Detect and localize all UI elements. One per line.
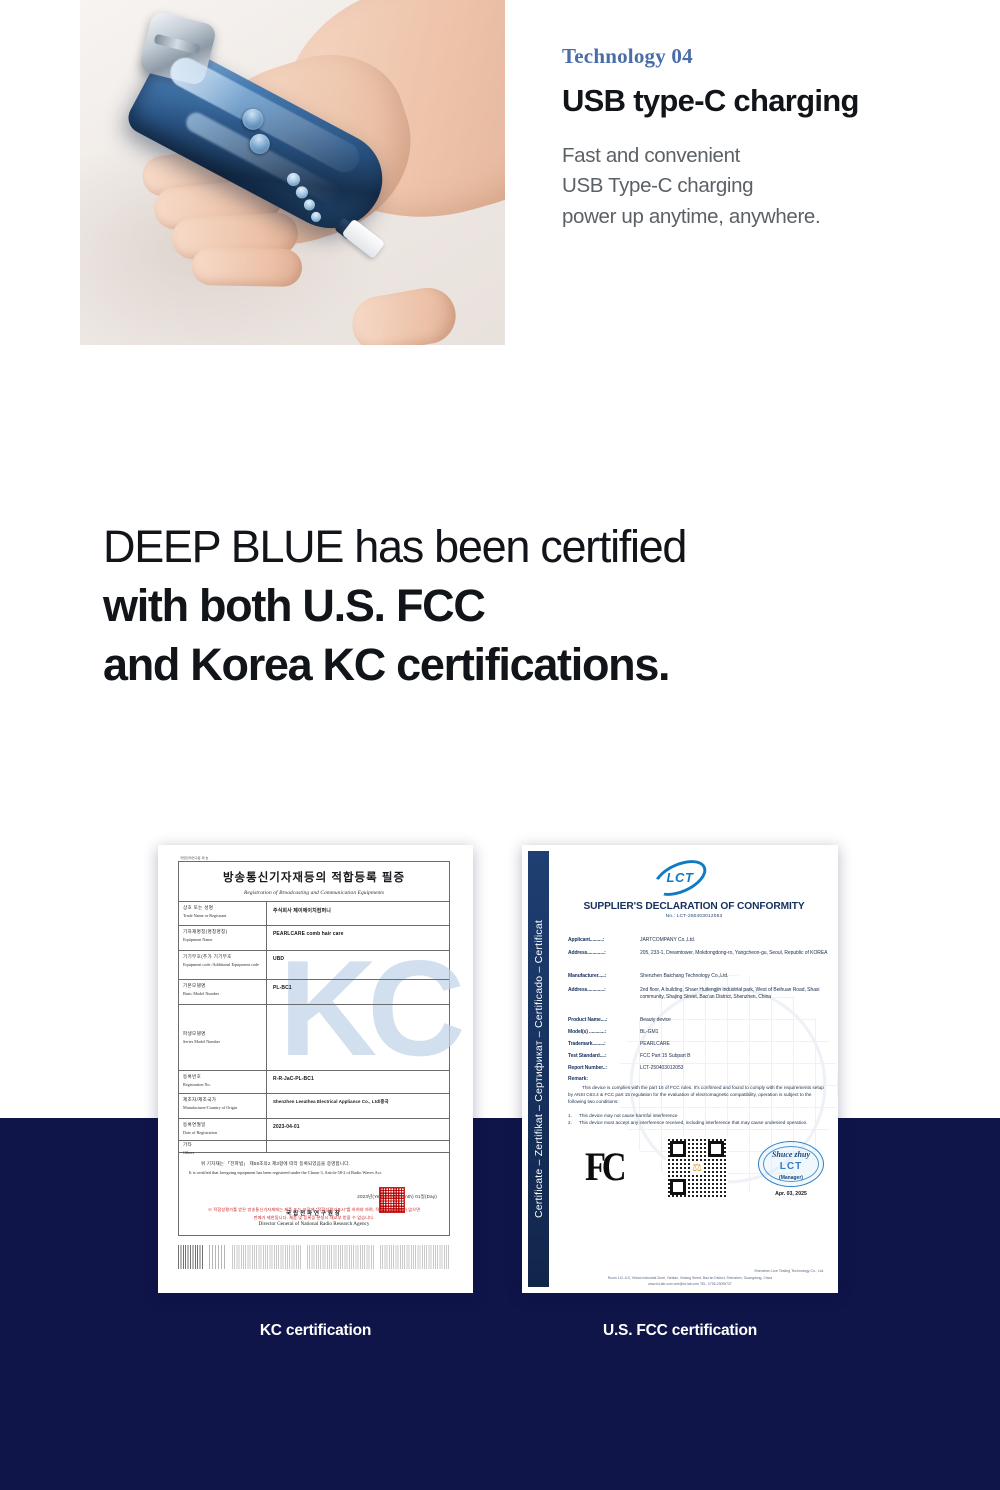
kc-label-ko: 파생모델명 [183, 1031, 266, 1037]
fcc-condition-1-number: 1. [568, 1112, 579, 1119]
qr-finder-bottom-left [670, 1179, 686, 1195]
kc-row-series-model: 파생모델명 Series Model Number [179, 1005, 449, 1071]
kc-row-manufacturer: 제조자/제조국가 Manufacturer/Country of Origin … [179, 1094, 449, 1119]
qr-finder-top-left [670, 1141, 686, 1157]
headline-line-1: DEEP BLUE has been certified [103, 518, 953, 577]
fcc-certificate-spine: Certificate – Zertifikat – Сертификат – … [528, 851, 549, 1287]
fcc-heading: SUPPLIER'S DECLARATION OF CONFORMITY [556, 901, 832, 912]
kc-label-ko: 등록연월일 [183, 1122, 266, 1128]
kc-title-korean: 방송통신기자재등의 적합등록 필증 [179, 869, 449, 885]
fcc-field-applicant-address: Address.............: 205, 233-1, Dreamt… [568, 950, 830, 957]
kc-label-manufacturer: 제조자/제조국가 Manufacturer/Country of Origin [179, 1094, 267, 1118]
lab-manager-stamp: Shuce zhuy LCT (Manager) [758, 1141, 824, 1187]
fcc-label-applicant: Applicant..........: [568, 937, 640, 944]
fcc-value-report-number: LCT-250403012053 [640, 1065, 683, 1072]
fcc-value-trademark: PEARLCARE [640, 1041, 670, 1048]
kc-label-basic-model: 기본모델명 Basic Model Number [179, 980, 267, 1004]
navy-band [0, 1118, 1000, 1490]
fcc-label-applicant-address: Address.............: [568, 950, 640, 957]
fcc-field-models: Model(s) ............: BL-GM1 [568, 1029, 830, 1036]
fcc-field-trademark: Trademark.........: PEARLCARE [568, 1041, 830, 1048]
kc-label-en: Registration No. [183, 1082, 266, 1087]
kc-label-ko: 기기부호(추가 기기부호 [183, 954, 266, 960]
kc-row-equipment-code: 기기부호(추가 기기부호 Equipment code /Additional … [179, 951, 449, 980]
fcc-marks-row: FC ⚖ Shuce zhuy LCT (Manager) Apr. 03, 2… [582, 1135, 832, 1205]
kc-value-trade-name: 주식회사 제이에이치컴퍼니 [267, 902, 331, 925]
fcc-field-report-number: Report Number..: LCT-250403012053 [568, 1065, 830, 1072]
fcc-field-applicant: Applicant..........: JARTCOMPANY Co.,Ltd… [568, 937, 830, 944]
fcc-remark-title: Remark: [568, 1076, 588, 1082]
fcc-label-test-standard: Test Standard....: [568, 1053, 640, 1060]
kc-label-series-model: 파생모델명 Series Model Number [179, 1005, 267, 1070]
fcc-condition-1: 1. This device may not cause harmful int… [568, 1112, 824, 1119]
fcc-value-manufacturer-address: 2nd floor, A building, Shaer Huifengjin … [640, 987, 830, 1001]
qr-center-emblem: ⚖ [690, 1161, 704, 1175]
fcc-label-report-number: Report Number..: [568, 1065, 640, 1072]
headline-line-3: and Korea KC certifications. [103, 636, 953, 695]
kc-note-korean: 위 기자재는 「전파법」 제58조의2 제3항에 따라 등록되었음을 증명합니다… [189, 1161, 439, 1167]
technology-desc-line-2: USB Type-C charging [562, 171, 962, 201]
kc-agency-english: Director General of National Radio Resea… [179, 1221, 449, 1227]
kc-label-ko: 기타 [183, 1142, 266, 1148]
kc-certificate-card: 국립전파연구원 제 호 KC 방송통신기자재등의 적합등록 필증 Registr… [158, 845, 473, 1293]
kc-barcode-2 [307, 1245, 375, 1269]
kc-value-registration-no: R-R-JaC-PL-BC1 [267, 1071, 314, 1093]
headline-line-2: with both U.S. FCC [103, 577, 953, 636]
kc-red-note-2: 판매가 제한됩니다. 제품 및 등록증 분실시 재교부 받을 수 없습니다. [179, 1215, 449, 1221]
kc-barcode-3 [380, 1245, 450, 1269]
lct-logo-text: LCT [652, 870, 708, 885]
kc-row-trade-name: 상호 또는 성명 Trade Name or Registrant 주식회사 제… [179, 902, 449, 926]
fcc-value-manufacturer: Shenzhen Baichang Technology Co.,Ltd. [640, 973, 728, 980]
kc-note-block: 위 기자재는 「전파법」 제58조의2 제3항에 따라 등록되었음을 증명합니다… [179, 1153, 449, 1237]
kc-label-en: Series Model Number [183, 1039, 266, 1044]
fcc-value-models: BL-GM1 [640, 1029, 658, 1036]
fcc-label-product-name: Product Name....: [568, 1017, 640, 1024]
fcc-value-test-standard: FCC Part 15 Subpart B [640, 1053, 690, 1060]
kc-label-en: Basic Model Number [183, 991, 266, 996]
kc-label-en: Equipment code /Additional Equipment cod… [183, 962, 266, 967]
kc-label-ko: 제조자/제조국가 [183, 1097, 266, 1103]
kc-label-others: 기타 Others [179, 1141, 267, 1152]
kc-label-ko: 기본모델명 [183, 983, 266, 989]
kc-title-cell: 방송통신기자재등의 적합등록 필증 Registration of Broadc… [179, 862, 449, 902]
fcc-spine-text: Certificate – Zertifikat – Сертификат – … [533, 920, 545, 1218]
fcc-document-number: No.: LCT-250403012053 [556, 914, 832, 919]
fcc-remark-body: This device is complies with the part 15… [568, 1084, 824, 1105]
fcc-value-applicant: JARTCOMPANY Co.,Ltd. [640, 937, 695, 944]
kc-qr-code [178, 1245, 204, 1269]
kc-label-en: Date of Registration [183, 1130, 266, 1135]
fcc-label-models: Model(s) ............: [568, 1029, 640, 1036]
fcc-footer-company: Shenzhen Lice Testing Technology Co., Lt… [754, 1269, 824, 1273]
kc-certificate-caption: KC certification [158, 1322, 473, 1340]
kc-certificate-frame: KC 방송통신기자재등의 적합등록 필증 Registration of Bro… [178, 861, 450, 1236]
kc-label-en: Equipment Name [183, 937, 266, 942]
fcc-issue-date: Apr. 03, 2025 [758, 1191, 824, 1197]
kc-label-registration-no: 등록번호 Registration No. [179, 1071, 267, 1093]
kc-barcode-small [209, 1245, 227, 1269]
kc-value-series-model [267, 1005, 273, 1070]
device-head-slot [154, 34, 201, 55]
kc-note-english: It is certified that foregoing equipment… [189, 1170, 439, 1176]
kc-barcode-strip [178, 1245, 454, 1269]
fcc-condition-2: 2. This device must accept any interfere… [568, 1119, 824, 1126]
stamp-signature: Shuce zhuy [759, 1150, 823, 1159]
kc-value-others [267, 1141, 273, 1152]
fcc-certificate-card: Certificate – Zertifikat – Сертификат – … [522, 845, 838, 1293]
kc-label-en: Trade Name or Registrant [183, 913, 266, 918]
fcc-field-test-standard: Test Standard....: FCC Part 15 Subpart B [568, 1053, 830, 1060]
kc-label-en: Manufacturer/Country of Origin [183, 1105, 266, 1110]
kc-label-date-registration: 등록연월일 Date of Registration [179, 1119, 267, 1140]
technology-desc-line-1: Fast and convenient [562, 141, 962, 171]
kc-label-trade-name: 상호 또는 성명 Trade Name or Registrant [179, 902, 267, 925]
stamp-lab-name: LCT [759, 1161, 823, 1172]
fcc-value-applicant-address: 205, 233-1, Dreamtower, Mokdongdong-ro, … [640, 950, 827, 957]
fcc-condition-2-text: This device must accept any interference… [579, 1119, 808, 1126]
fcc-label-manufacturer: Manufacturer.....: [568, 973, 640, 980]
kc-red-note-1: ※ 적합성평가를 받은 방송통신기자재에는 제품 또는 포장에 "적합성평가표시… [179, 1207, 449, 1213]
kc-barcode-1 [232, 1245, 302, 1269]
kc-value-equipment-name: PEARLCARE comb hair care [267, 926, 343, 950]
technology-desc-line-3: power up anytime, anywhere. [562, 202, 962, 232]
fcc-condition-2-number: 2. [568, 1119, 579, 1126]
kc-row-others: 기타 Others [179, 1141, 449, 1153]
fcc-field-manufacturer-address: Address.............: 2nd floor, A build… [568, 987, 830, 1001]
fcc-condition-1-text: This device may not cause harmful interf… [579, 1112, 677, 1119]
fcc-footer-contact: www.lct-lab.com cert@lct-lab.com TEL: 07… [556, 1282, 824, 1286]
kc-value-manufacturer: Shenzhen Leeathea Electrical Appliance C… [267, 1094, 389, 1118]
fcc-certificate-caption: U.S. FCC certification [522, 1322, 838, 1340]
kc-title-english: Registration of Broadcasting and Communi… [179, 890, 449, 896]
kc-value-date-registration: 2023-04-01 [267, 1119, 300, 1140]
technology-text-block: Technology 04 USB type-C charging Fast a… [562, 44, 962, 232]
fcc-value-product-name: Beauty device [640, 1017, 671, 1024]
kc-label-equipment-code: 기기부호(추가 기기부호 Equipment code /Additional … [179, 951, 267, 979]
kc-row-equipment-name: 기자재명칭(명칭명칭) Equipment Name PEARLCARE com… [179, 926, 449, 951]
kc-label-ko: 상호 또는 성명 [183, 905, 266, 911]
stamp-role-label: (Manager) [759, 1175, 823, 1181]
technology-eyebrow: Technology 04 [562, 44, 962, 69]
kc-label-ko: 등록번호 [183, 1074, 266, 1080]
page-headline: DEEP BLUE has been certified with both U… [103, 518, 953, 695]
kc-value-equipment-code: UBD [267, 951, 284, 979]
kc-value-basic-model: PL-BC1 [267, 980, 292, 1004]
fcc-logo-icon: FC [585, 1147, 622, 1187]
kc-tiny-top-text: 국립전파연구원 제 호 [180, 855, 208, 860]
kc-label-equipment-name: 기자재명칭(명칭명칭) Equipment Name [179, 926, 267, 950]
fcc-label-manufacturer-address: Address.............: [568, 987, 640, 1001]
fcc-qr-code-icon: ⚖ [666, 1137, 728, 1199]
qr-finder-top-right [708, 1141, 724, 1157]
lct-logo-icon: LCT [652, 863, 708, 893]
technology-section: Technology 04 USB type-C charging Fast a… [0, 0, 1000, 345]
fcc-field-product-name: Product Name....: Beauty device [568, 1017, 830, 1024]
kc-row-registration-no: 등록번호 Registration No. R-R-JaC-PL-BC1 [179, 1071, 449, 1094]
product-photo [80, 0, 505, 345]
fcc-field-manufacturer: Manufacturer.....: Shenzhen Baichang Tec… [568, 973, 830, 980]
kc-label-ko: 기자재명칭(명칭명칭) [183, 929, 266, 935]
technology-title: USB type-C charging [562, 83, 962, 119]
fcc-footer-address: Room 112-113, Yinlian Industrial Zone, Y… [556, 1276, 824, 1280]
kc-row-date-registration: 등록연월일 Date of Registration 2023-04-01 [179, 1119, 449, 1141]
kc-row-basic-model: 기본모델명 Basic Model Number PL-BC1 [179, 980, 449, 1005]
fcc-label-trademark: Trademark.........: [568, 1041, 640, 1048]
